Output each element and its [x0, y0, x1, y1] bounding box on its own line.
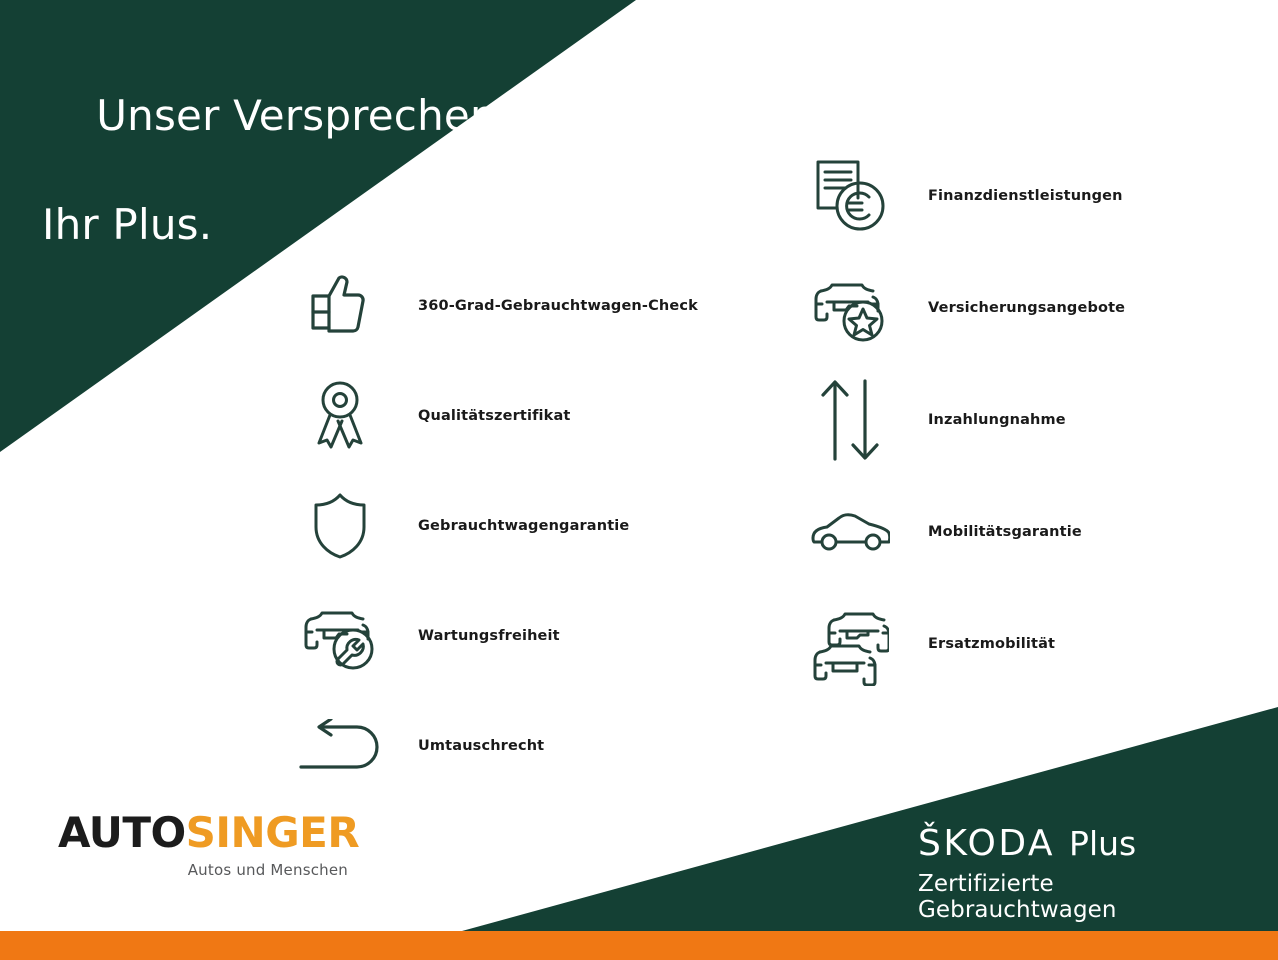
- feature-label: Finanzdienstleistungen: [928, 188, 1123, 204]
- feature-label: Umtauschrecht: [418, 738, 544, 754]
- return-arrow-icon: [296, 702, 384, 790]
- brand-wordmark: ŠKODA: [918, 826, 1055, 862]
- dealer-tagline: Autos und Menschen: [58, 861, 348, 879]
- dealer-wordmark-singer: SINGER: [186, 808, 360, 857]
- feature-list-right: Finanzdienstleistungen Versicherungsange…: [806, 152, 1226, 712]
- feature-item: Versicherungsangebote: [806, 264, 1226, 352]
- feature-item: Umtauschrecht: [296, 702, 766, 790]
- thumbs-up-icon: [296, 262, 384, 350]
- document-euro-icon: [806, 152, 894, 240]
- dealer-logo: AUTOSINGER Autos und Menschen: [58, 812, 348, 879]
- feature-label: Mobilitätsgarantie: [928, 524, 1082, 540]
- feature-item: Qualitätszertifikat: [296, 372, 766, 460]
- up-down-arrows-icon: [806, 376, 894, 464]
- feature-label: Ersatzmobilität: [928, 636, 1055, 652]
- feature-label: Qualitätszertifikat: [418, 408, 570, 424]
- feature-label: Inzahlungnahme: [928, 412, 1066, 428]
- feature-item: Inzahlungnahme: [806, 376, 1226, 464]
- feature-item: Wartungsfreiheit: [296, 592, 766, 680]
- headline-line-2: Ihr Plus.: [42, 198, 510, 253]
- award-rosette-icon: [296, 372, 384, 460]
- two-cars-icon: [806, 600, 894, 688]
- dealer-wordmark-auto: AUTO: [58, 808, 186, 857]
- feature-label: Gebrauchtwagengarantie: [418, 518, 629, 534]
- feature-item: Finanzdienstleistungen: [806, 152, 1226, 240]
- headline-line-1: Unser Versprechen.: [96, 91, 510, 140]
- feature-item: Gebrauchtwagengarantie: [296, 482, 766, 570]
- bottom-orange-bar: [0, 931, 1278, 960]
- shield-icon: [296, 482, 384, 570]
- feature-item: 360-Grad-Gebrauchtwagen-Check: [296, 262, 766, 350]
- car-star-icon: [806, 264, 894, 352]
- brand-logo: ŠKODA Plus Zertifizierte Gebrauchtwagen: [918, 826, 1238, 923]
- brand-subtitle: Zertifizierte Gebrauchtwagen: [918, 871, 1238, 923]
- feature-item: Ersatzmobilität: [806, 600, 1226, 688]
- car-side-icon: [806, 488, 894, 576]
- brand-suffix: Plus: [1069, 827, 1136, 860]
- feature-label: 360-Grad-Gebrauchtwagen-Check: [418, 298, 698, 314]
- feature-label: Wartungsfreiheit: [418, 628, 560, 644]
- feature-list-left: 360-Grad-Gebrauchtwagen-Check Qualitätsz…: [296, 262, 766, 812]
- feature-item: Mobilitätsgarantie: [806, 488, 1226, 576]
- feature-label: Versicherungsangebote: [928, 300, 1125, 316]
- promo-banner: Unser Versprechen. Ihr Plus. 360-Grad-Ge…: [0, 0, 1278, 960]
- dealer-wordmark: AUTOSINGER: [58, 812, 348, 854]
- car-wrench-icon: [296, 592, 384, 680]
- brand-logo-top-row: ŠKODA Plus: [918, 826, 1238, 862]
